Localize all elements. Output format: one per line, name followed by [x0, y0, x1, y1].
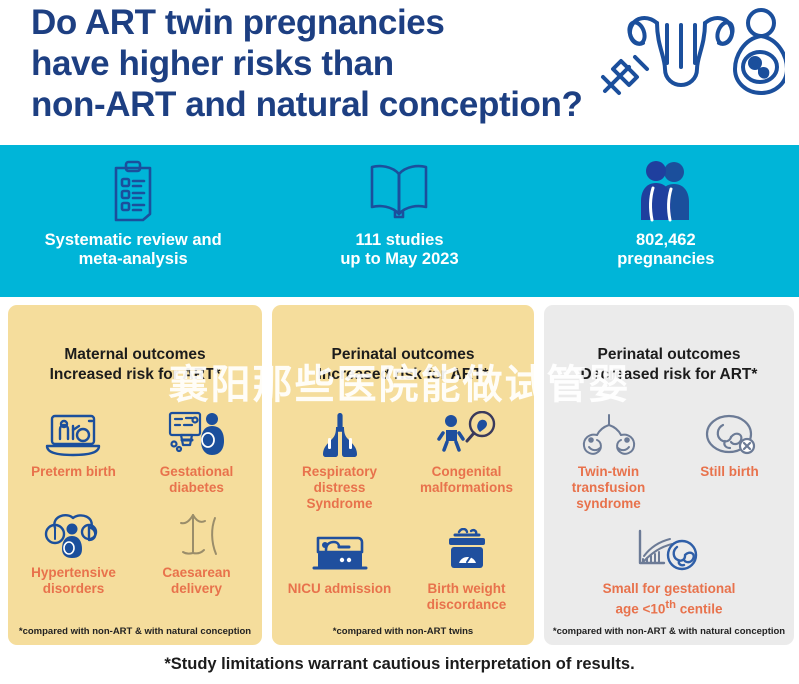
header-banner: Do ART twin pregnancies have higher risk… — [0, 0, 799, 145]
panel-items: Preterm birth — [8, 385, 262, 597]
page-title: Do ART twin pregnancies have higher risk… — [31, 2, 601, 125]
twin-fetuses-placenta-icon — [577, 407, 641, 457]
uterus-syringe-icon — [595, 5, 785, 100]
footer-disclaimer: *Study limitations warrant cautious inte… — [0, 655, 799, 674]
item-hypertensive-disorders: Hypertensive disorders — [14, 508, 132, 597]
outcome-panels: Maternal outcomes Increased risk for ART… — [0, 305, 799, 650]
item-twin-twin-transfusion-syndrome: Twin-twin transfusion syndrome — [550, 407, 666, 512]
item-label: Birth weight discordance — [427, 581, 507, 613]
sga-label-superscript: th — [665, 599, 676, 611]
lungs-icon — [312, 407, 368, 457]
panel-footnote: *compared with non-ART & with natural co… — [544, 626, 794, 637]
stillbirth-cross-icon — [703, 407, 757, 457]
item-birth-weight-discordance: Birth weight discordance — [406, 524, 528, 613]
stat-pregnancies-count: 802,462 pregnancies — [533, 145, 799, 297]
header-icon-group — [595, 5, 785, 100]
panel-title: Perinatal outcomes Decreased risk for AR… — [544, 305, 794, 385]
panel-footnote: *compared with non-ART & with natural co… — [8, 626, 262, 637]
stat-label: Systematic review and meta-analysis — [45, 231, 222, 269]
caesarean-scar-icon — [171, 508, 221, 558]
item-label: Small for gestational age <10th centile — [603, 581, 736, 618]
panel-perinatal-decreased: Perinatal outcomes Decreased risk for AR… — [544, 305, 794, 645]
glucose-test-pregnant-icon — [167, 407, 225, 457]
page-title-line-3: non-ART and natural conception? — [31, 84, 601, 125]
item-label: Congenital malformations — [420, 464, 513, 496]
incubator-icon — [312, 524, 368, 574]
item-nicu-admission: NICU admission — [279, 524, 401, 613]
ultrasound-preterm-birth-icon — [45, 407, 101, 457]
panel-items: Respiratory distress Syndrome — [272, 385, 534, 613]
item-respiratory-distress-syndrome: Respiratory distress Syndrome — [279, 407, 401, 512]
stat-studies-count: 111 studies up to May 2023 — [266, 145, 532, 297]
panel-footnote: *compared with non-ART twins — [272, 626, 534, 637]
item-label: Still birth — [700, 464, 759, 480]
two-people-icon — [640, 159, 692, 223]
item-congenital-malformations: Congenital malformations — [406, 407, 528, 512]
stat-label: 802,462 pregnancies — [617, 231, 714, 269]
item-label: Hypertensive disorders — [31, 565, 116, 597]
item-label: Respiratory distress Syndrome — [279, 464, 401, 512]
blood-pressure-pregnant-icon — [41, 508, 105, 558]
stat-systematic-review: Systematic review and meta-analysis — [0, 145, 266, 297]
item-label: Preterm birth — [31, 464, 116, 480]
panel-maternal-outcomes: Maternal outcomes Increased risk for ART… — [8, 305, 262, 645]
item-label: Gestational diabetes — [160, 464, 234, 496]
item-small-for-gestational-age: Small for gestational age <10th centile — [548, 524, 790, 618]
panel-perinatal-increased: Perinatal outcomes Increased risk for AR… — [272, 305, 534, 645]
stat-label: 111 studies up to May 2023 — [340, 231, 458, 269]
weighing-scale-icon — [441, 524, 493, 574]
baby-magnifier-icon — [437, 407, 497, 457]
stats-band: Systematic review and meta-analysis 111 … — [0, 145, 799, 297]
item-caesarean-delivery: Caesarean delivery — [137, 508, 255, 597]
item-gestational-diabetes: Gestational diabetes — [137, 407, 255, 496]
sga-label-suffix: centile — [676, 602, 723, 617]
item-label: NICU admission — [288, 581, 392, 597]
item-label: Twin-twin transfusion syndrome — [572, 464, 646, 512]
clipboard-checklist-icon — [109, 159, 157, 223]
growth-chart-fetus-icon — [632, 524, 706, 574]
page-title-line-1: Do ART twin pregnancies — [31, 2, 601, 43]
item-label: Caesarean delivery — [162, 565, 230, 597]
panel-items: Twin-twin transfusion syndrome Still bir… — [544, 385, 794, 618]
panel-title: Maternal outcomes Increased risk for ART… — [8, 305, 262, 385]
item-preterm-birth: Preterm birth — [14, 407, 132, 496]
page-title-line-2: have higher risks than — [31, 43, 601, 84]
item-still-birth: Still birth — [671, 407, 787, 512]
open-book-icon — [368, 159, 430, 223]
panel-title: Perinatal outcomes Increased risk for AR… — [272, 305, 534, 385]
